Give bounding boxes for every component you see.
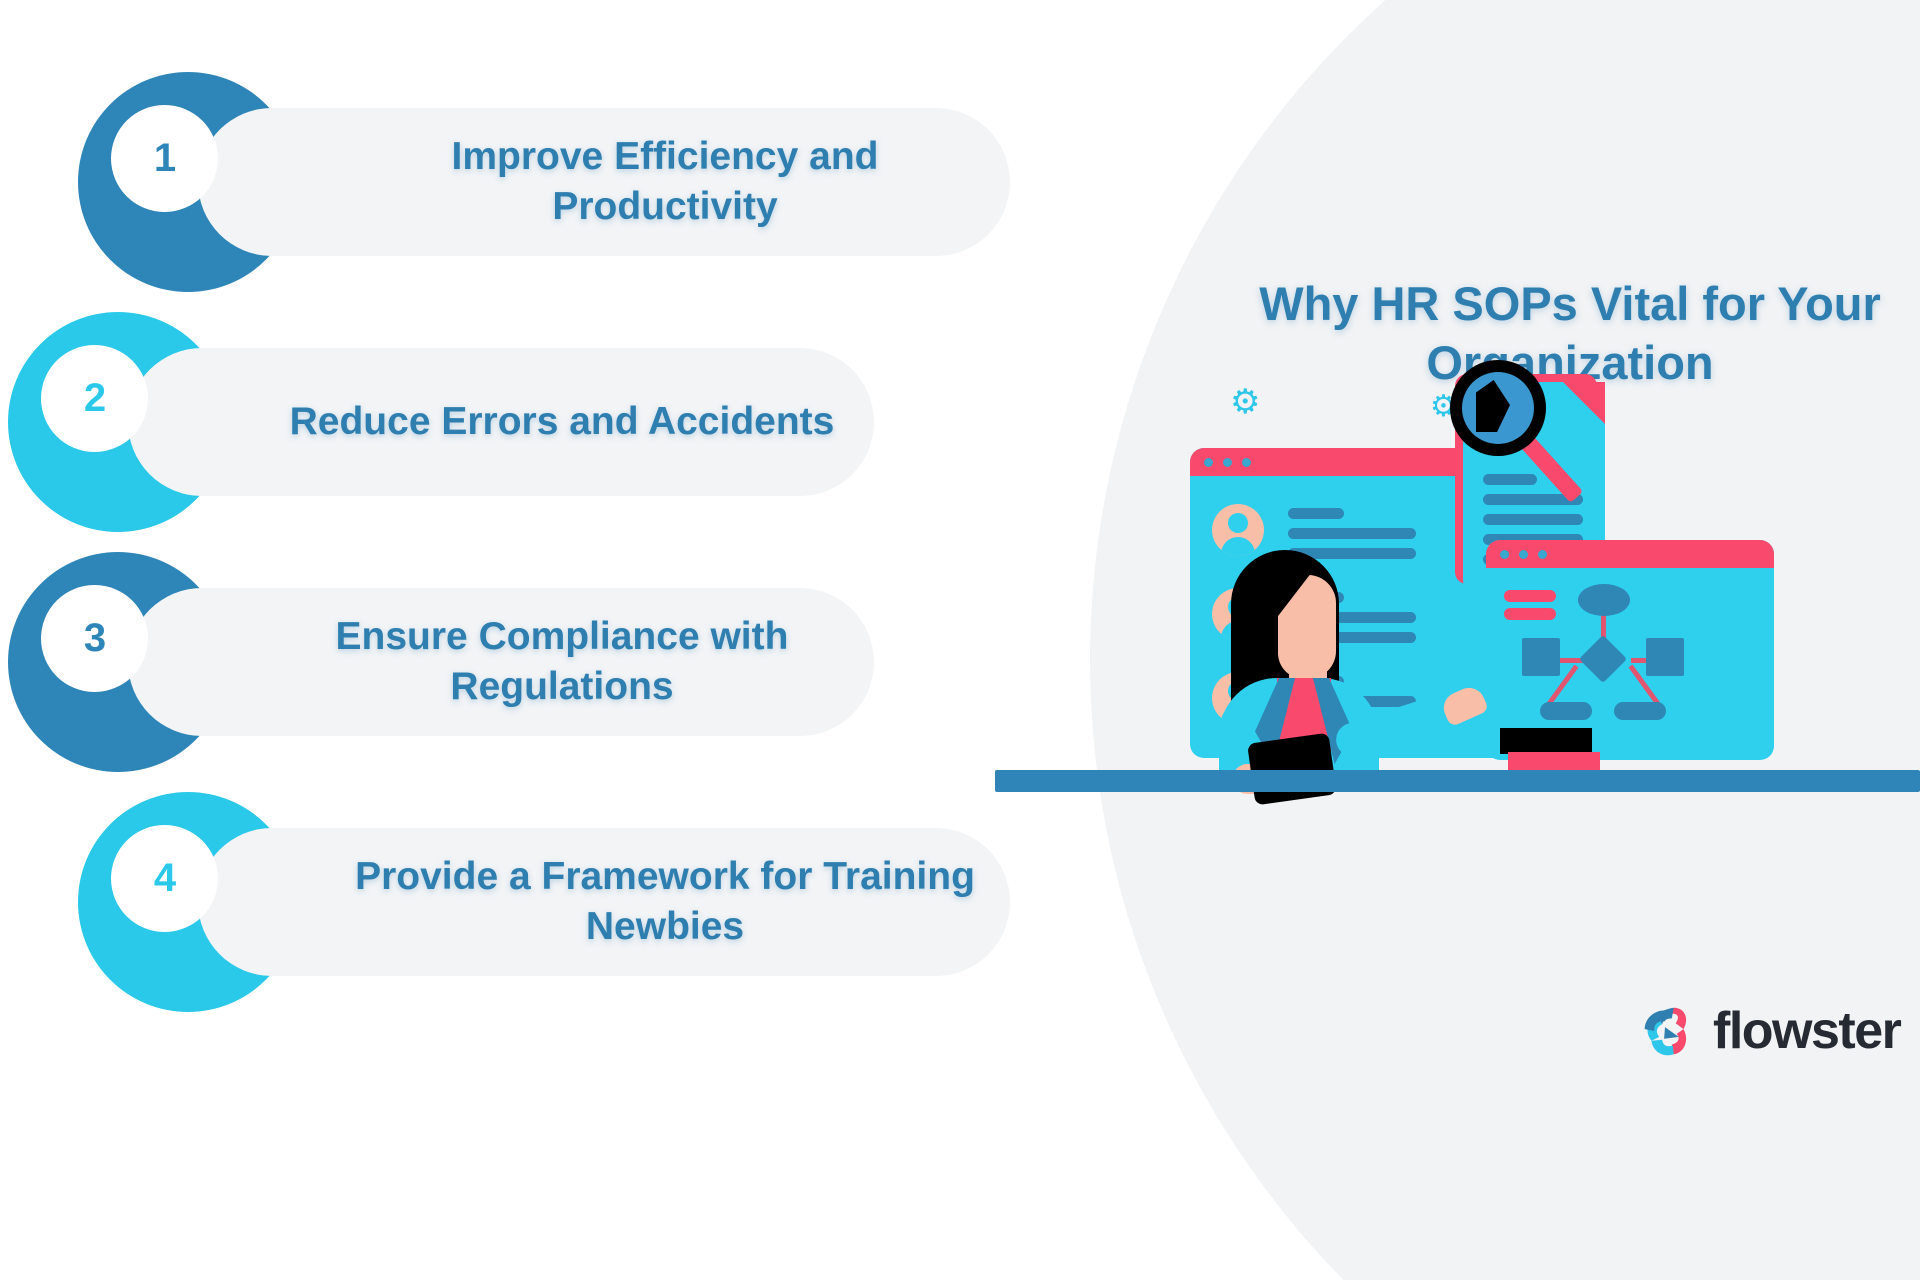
flowchart-node-start bbox=[1578, 584, 1630, 616]
flowchart-node-right bbox=[1646, 638, 1684, 676]
step-label-4: Provide a Framework for Training Newbies bbox=[198, 852, 1010, 952]
step-number-4: 4 bbox=[111, 825, 218, 932]
document-fold bbox=[1563, 382, 1605, 424]
monitor-stand-top bbox=[1500, 728, 1592, 754]
step-number-2: 2 bbox=[41, 345, 148, 452]
gear-icon: ⚙ bbox=[1230, 385, 1260, 419]
flowchart-tag bbox=[1504, 590, 1556, 602]
flowchart-tag bbox=[1504, 608, 1556, 620]
window-dot-icon bbox=[1223, 458, 1232, 467]
window-dot-icon bbox=[1519, 550, 1528, 559]
flowster-swirl-icon bbox=[1635, 1000, 1697, 1062]
infographic-canvas: Improve Efficiency and Productivity 1 Re… bbox=[0, 0, 1920, 1280]
step-pill-1: Improve Efficiency and Productivity bbox=[198, 108, 1010, 256]
text-line bbox=[1483, 474, 1537, 485]
desk bbox=[995, 770, 1920, 792]
step-label-2: Reduce Errors and Accidents bbox=[128, 397, 874, 447]
laptop bbox=[1247, 733, 1337, 806]
magnifier-lens bbox=[1462, 372, 1534, 444]
window-dot-icon bbox=[1204, 458, 1213, 467]
step-number-1: 1 bbox=[111, 105, 218, 212]
step-label-3: Ensure Compliance with Regulations bbox=[128, 612, 874, 712]
text-line bbox=[1288, 508, 1344, 519]
flowchart-node-decision bbox=[1579, 635, 1627, 683]
flowster-logo-text: flowster bbox=[1713, 1001, 1900, 1061]
text-line bbox=[1483, 514, 1583, 525]
flowster-logo[interactable]: flowster bbox=[1635, 1000, 1900, 1062]
flowchart-node-end-right bbox=[1614, 702, 1666, 720]
step-number-3: 3 bbox=[41, 585, 148, 692]
hr-sop-illustration: ⚙ ⚙ ⚙ ⚙ bbox=[1190, 430, 1920, 990]
window-dot-icon bbox=[1500, 550, 1509, 559]
text-line bbox=[1288, 528, 1416, 539]
step-pill-2: Reduce Errors and Accidents bbox=[128, 348, 874, 496]
step-label-1: Improve Efficiency and Productivity bbox=[198, 132, 1010, 232]
woman-with-laptop bbox=[1185, 550, 1475, 780]
flowchart-node-end-left bbox=[1540, 702, 1592, 720]
flowchart-window bbox=[1486, 540, 1774, 760]
magnifier-icon bbox=[1450, 360, 1546, 456]
step-pill-3: Ensure Compliance with Regulations bbox=[128, 588, 874, 736]
step-pill-4: Provide a Framework for Training Newbies bbox=[198, 828, 1010, 976]
flowchart-node-left bbox=[1522, 638, 1560, 676]
window-dot-icon bbox=[1242, 458, 1251, 467]
avatar bbox=[1212, 504, 1264, 556]
window-titlebar bbox=[1486, 540, 1774, 568]
window-dot-icon bbox=[1538, 550, 1547, 559]
steps-list: Improve Efficiency and Productivity 1 Re… bbox=[0, 0, 1160, 1280]
